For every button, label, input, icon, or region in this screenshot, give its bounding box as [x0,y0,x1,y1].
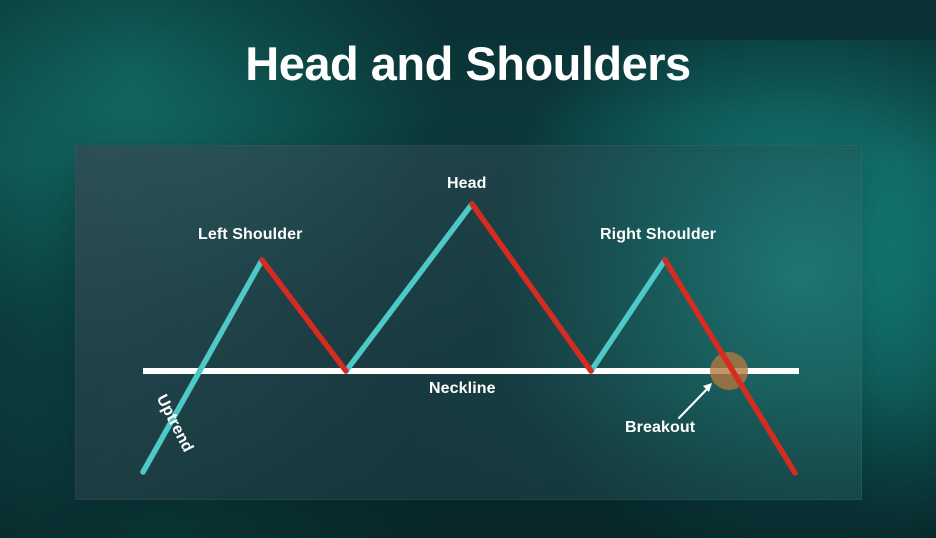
page-title: Head and Shoulders [0,38,936,91]
label-neckline: Neckline [429,380,496,398]
label-left-shoulder: Left Shoulder [198,226,302,244]
head-advance-line [346,204,472,371]
left-shoulder-decline-line [262,260,346,371]
label-head: Head [447,175,487,193]
uptrend-line [143,260,262,472]
slide-canvas: Head and Shoulders Left Shoulder Head Ri… [0,0,936,538]
label-right-shoulder: Right Shoulder [600,226,716,244]
breakdown-line [665,260,795,473]
right-shoulder-advance-line [591,260,665,371]
head-decline-line [472,204,591,371]
breakout-arrow [679,383,712,418]
label-breakout: Breakout [625,419,695,437]
